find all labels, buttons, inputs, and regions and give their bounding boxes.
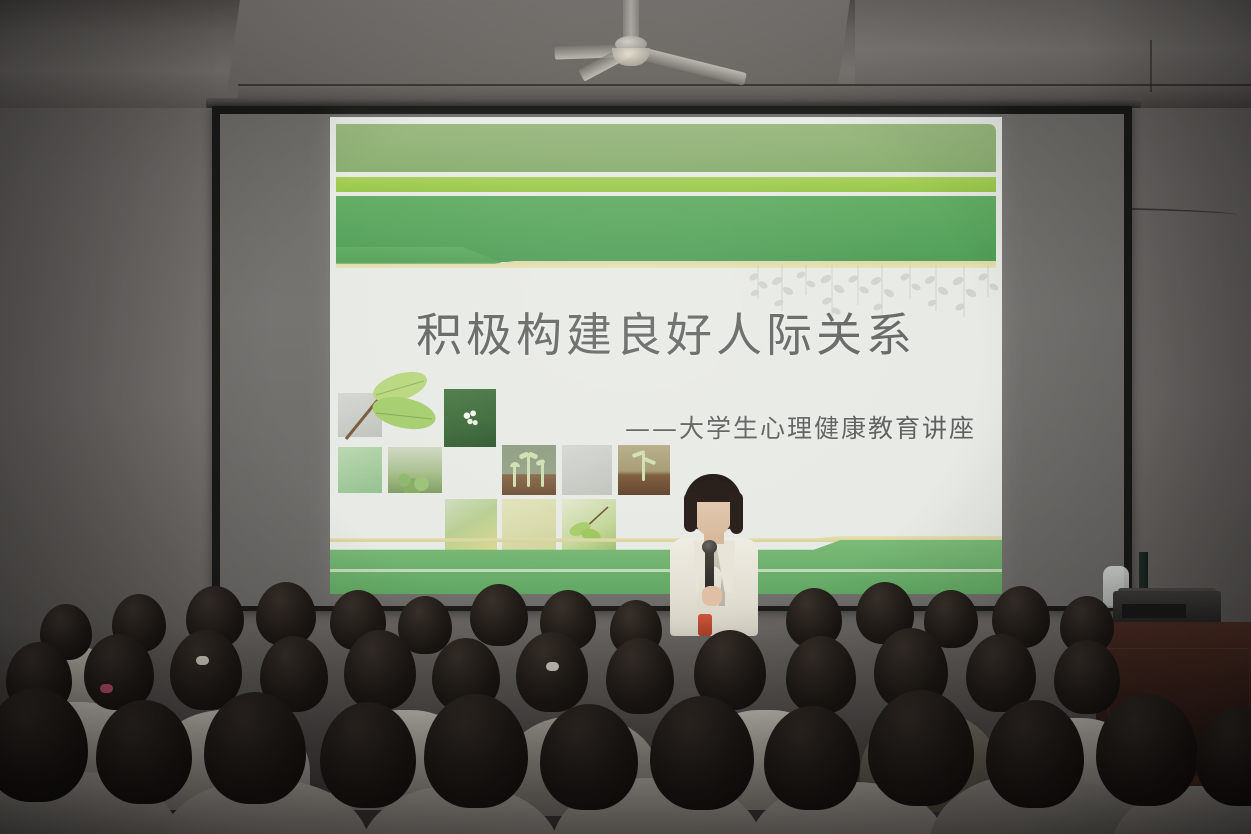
presenter-badge <box>698 614 712 636</box>
slide-band-stripe <box>336 177 996 192</box>
wall-shadow-left <box>0 0 215 834</box>
tile-pale-green-swatch <box>338 447 382 493</box>
tile-gray-swatch <box>562 445 612 495</box>
presenter-hand <box>702 586 722 606</box>
tile-moss-sprout-photo <box>388 447 442 493</box>
ceiling-beam-soffit <box>227 0 850 92</box>
leaf-branch-icon <box>562 499 616 553</box>
slide-subtitle: ——大学生心理健康教育讲座 <box>625 409 976 445</box>
microphone-head-icon <box>702 540 717 554</box>
tile-leaf-branch-photo <box>562 499 616 553</box>
tile-green-fruit-photo <box>445 499 497 553</box>
presenter-hair-side-right <box>730 492 743 534</box>
floor-strip <box>1060 776 1251 834</box>
slide-title: 积极构建良好人际关系 <box>330 299 1002 365</box>
leaf-sprig-icon <box>342 365 462 445</box>
wooden-counter-panel <box>1108 648 1250 746</box>
lecture-hall-photo: 积极构建良好人际关系 ——大学生心理健康教育讲座 <box>0 0 1251 834</box>
tile-pale-yellow-swatch <box>502 499 556 553</box>
fan-downrod <box>623 0 639 38</box>
projector-device-slot <box>1122 604 1186 618</box>
presenter-hair-side-left <box>684 492 697 532</box>
tile-seedling-trio-photo <box>502 445 556 495</box>
microphone-icon <box>705 548 714 590</box>
presenter <box>648 474 778 634</box>
slide-band-top <box>336 124 996 172</box>
